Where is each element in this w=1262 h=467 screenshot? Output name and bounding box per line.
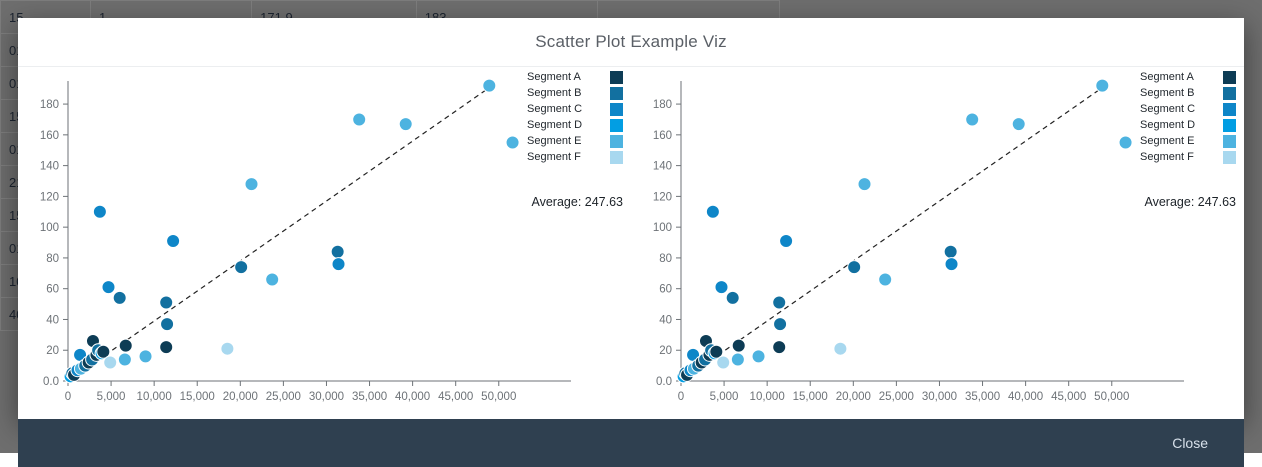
scatter-point[interactable] bbox=[945, 258, 958, 271]
scatter-point[interactable] bbox=[1119, 136, 1132, 149]
scatter-point[interactable] bbox=[266, 273, 279, 286]
scatter-point[interactable] bbox=[879, 273, 892, 286]
y-axis-tick-label: 120 bbox=[40, 191, 59, 203]
legend-item-label: Segment E bbox=[527, 135, 581, 147]
scatter-point[interactable] bbox=[706, 205, 719, 218]
scatter-point[interactable] bbox=[160, 341, 173, 354]
trendline bbox=[68, 84, 494, 381]
legend-color-swatch bbox=[610, 119, 623, 132]
y-axis-tick-label: 140 bbox=[40, 161, 59, 173]
modal-body: 0.02040608010012014016018005,00010,00015… bbox=[18, 67, 1244, 419]
scatter-point[interactable] bbox=[726, 291, 739, 304]
scatter-point[interactable] bbox=[102, 281, 115, 294]
trendline bbox=[681, 84, 1107, 381]
scatter-point[interactable] bbox=[848, 261, 861, 274]
scatter-point[interactable] bbox=[245, 178, 258, 191]
scatter-point[interactable] bbox=[944, 245, 957, 258]
y-axis-tick-label: 100 bbox=[653, 222, 672, 234]
scatter-point[interactable] bbox=[139, 350, 152, 363]
right-chart-average-annotation: Average: 247.63 bbox=[1144, 195, 1236, 209]
y-axis-tick-label: 0.0 bbox=[656, 376, 672, 388]
scatter-point[interactable] bbox=[773, 341, 786, 354]
x-axis-tick-label: 15,000 bbox=[793, 391, 828, 403]
legend-item-label: Segment A bbox=[1140, 71, 1194, 83]
x-axis-tick-label: 20,000 bbox=[836, 391, 871, 403]
visualization-modal: Scatter Plot Example Viz 0.0204060801001… bbox=[18, 18, 1244, 418]
scatter-point[interactable] bbox=[331, 245, 344, 258]
legend-color-swatch bbox=[1223, 71, 1236, 84]
legend-item[interactable]: Segment E bbox=[527, 133, 623, 149]
y-axis-tick-label: 20 bbox=[46, 345, 59, 357]
y-axis-tick-label: 80 bbox=[659, 253, 672, 265]
x-axis-tick-label: 10,000 bbox=[137, 391, 172, 403]
scatter-point[interactable] bbox=[506, 136, 519, 149]
x-axis-tick-label: 45,000 bbox=[1051, 391, 1086, 403]
legend-color-swatch bbox=[610, 71, 623, 84]
scatter-point[interactable] bbox=[752, 350, 765, 363]
scatter-point[interactable] bbox=[93, 205, 106, 218]
legend-item-label: Segment F bbox=[1140, 151, 1194, 163]
legend-item[interactable]: Segment C bbox=[527, 101, 623, 117]
scatter-point[interactable] bbox=[780, 235, 793, 248]
x-axis-tick-label: 5,000 bbox=[710, 391, 739, 403]
legend-color-swatch bbox=[1223, 87, 1236, 100]
legend-color-swatch bbox=[610, 135, 623, 148]
legend-item[interactable]: Segment A bbox=[527, 69, 623, 85]
scatter-point[interactable] bbox=[167, 235, 180, 248]
legend-item-label: Segment B bbox=[1140, 87, 1194, 99]
y-axis-tick-label: 20 bbox=[659, 345, 672, 357]
scatter-point[interactable] bbox=[113, 291, 126, 304]
x-axis-tick-label: 10,000 bbox=[750, 391, 785, 403]
x-axis-tick-label: 30,000 bbox=[309, 391, 344, 403]
left-chart-average-annotation: Average: 247.63 bbox=[531, 195, 623, 209]
x-axis-tick-label: 0 bbox=[65, 391, 71, 403]
scatter-point[interactable] bbox=[858, 178, 871, 191]
scatter-point[interactable] bbox=[834, 342, 847, 355]
scatter-point[interactable] bbox=[717, 356, 730, 369]
y-axis-tick-label: 180 bbox=[653, 99, 672, 111]
legend-item[interactable]: Segment B bbox=[1140, 85, 1236, 101]
legend-item[interactable]: Segment D bbox=[527, 117, 623, 133]
right-chart-legend: Segment ASegment BSegment CSegment DSegm… bbox=[1140, 69, 1236, 165]
scatter-point[interactable] bbox=[399, 118, 412, 131]
y-axis-tick-label: 160 bbox=[40, 130, 59, 142]
legend-color-swatch bbox=[610, 103, 623, 116]
scatter-point[interactable] bbox=[332, 258, 345, 271]
left-scatter-chart-panel: 0.02040608010012014016018005,00010,00015… bbox=[18, 67, 631, 419]
x-axis-tick-label: 20,000 bbox=[223, 391, 258, 403]
legend-item-label: Segment F bbox=[527, 151, 581, 163]
legend-color-swatch bbox=[1223, 135, 1236, 148]
scatter-point[interactable] bbox=[731, 353, 744, 366]
scatter-point[interactable] bbox=[160, 296, 173, 309]
y-axis-tick-label: 80 bbox=[46, 253, 59, 265]
x-axis-tick-label: 35,000 bbox=[352, 391, 387, 403]
legend-item[interactable]: Segment B bbox=[527, 85, 623, 101]
legend-item-label: Segment E bbox=[1140, 135, 1194, 147]
x-axis-tick-label: 50,000 bbox=[1094, 391, 1129, 403]
scatter-point[interactable] bbox=[161, 318, 174, 331]
y-axis-tick-label: 160 bbox=[653, 130, 672, 142]
left-chart-legend: Segment ASegment BSegment CSegment DSegm… bbox=[527, 69, 623, 165]
x-axis-tick-label: 50,000 bbox=[481, 391, 516, 403]
legend-item-label: Segment B bbox=[527, 87, 581, 99]
scatter-point[interactable] bbox=[773, 296, 786, 309]
y-axis-tick-label: 100 bbox=[40, 222, 59, 234]
scatter-point[interactable] bbox=[1012, 118, 1025, 131]
legend-color-swatch bbox=[1223, 119, 1236, 132]
x-axis-tick-label: 0 bbox=[678, 391, 684, 403]
x-axis-tick-label: 35,000 bbox=[965, 391, 1000, 403]
scatter-point[interactable] bbox=[353, 113, 366, 126]
x-axis-tick-label: 15,000 bbox=[180, 391, 215, 403]
scatter-point[interactable] bbox=[104, 356, 117, 369]
legend-color-swatch bbox=[1223, 151, 1236, 164]
legend-item[interactable]: Segment C bbox=[1140, 101, 1236, 117]
modal-header: Scatter Plot Example Viz bbox=[18, 18, 1244, 67]
legend-color-swatch bbox=[1223, 103, 1236, 116]
legend-item[interactable]: Segment F bbox=[1140, 149, 1236, 165]
modal-footer: Close bbox=[18, 419, 1244, 467]
legend-item[interactable]: Segment F bbox=[527, 149, 623, 165]
y-axis-tick-label: 60 bbox=[46, 284, 59, 296]
scatter-point[interactable] bbox=[235, 261, 248, 274]
x-axis-tick-label: 40,000 bbox=[395, 391, 430, 403]
scatter-point[interactable] bbox=[119, 339, 132, 352]
scatter-point[interactable] bbox=[118, 353, 131, 366]
legend-color-swatch bbox=[610, 87, 623, 100]
y-axis-tick-label: 120 bbox=[653, 191, 672, 203]
y-axis-tick-label: 40 bbox=[46, 314, 59, 326]
legend-item[interactable]: Segment A bbox=[1140, 69, 1236, 85]
legend-item[interactable]: Segment E bbox=[1140, 133, 1236, 149]
y-axis-tick-label: 60 bbox=[659, 284, 672, 296]
scatter-point[interactable] bbox=[732, 339, 745, 352]
scatter-point[interactable] bbox=[774, 318, 787, 331]
scatter-point[interactable] bbox=[221, 342, 234, 355]
scatter-point[interactable] bbox=[483, 79, 496, 92]
legend-item-label: Segment A bbox=[527, 71, 581, 83]
legend-item-label: Segment C bbox=[1140, 103, 1195, 115]
y-axis-tick-label: 180 bbox=[40, 99, 59, 111]
page-title: Scatter Plot Example Viz bbox=[535, 32, 727, 52]
x-axis-tick-label: 5,000 bbox=[97, 391, 126, 403]
x-axis-tick-label: 45,000 bbox=[438, 391, 473, 403]
legend-item-label: Segment C bbox=[527, 103, 582, 115]
y-axis-tick-label: 140 bbox=[653, 161, 672, 173]
legend-item-label: Segment D bbox=[1140, 119, 1195, 131]
legend-item[interactable]: Segment D bbox=[1140, 117, 1236, 133]
right-scatter-chart-panel: 0.02040608010012014016018005,00010,00015… bbox=[631, 67, 1244, 419]
scatter-point[interactable] bbox=[966, 113, 979, 126]
legend-color-swatch bbox=[610, 151, 623, 164]
y-axis-tick-label: 0.0 bbox=[43, 376, 59, 388]
y-axis-tick-label: 40 bbox=[659, 314, 672, 326]
scatter-point[interactable] bbox=[715, 281, 728, 294]
x-axis-tick-label: 25,000 bbox=[879, 391, 914, 403]
x-axis-tick-label: 40,000 bbox=[1008, 391, 1043, 403]
legend-item-label: Segment D bbox=[527, 119, 582, 131]
x-axis-tick-label: 25,000 bbox=[266, 391, 301, 403]
x-axis-tick-label: 30,000 bbox=[922, 391, 957, 403]
scatter-point[interactable] bbox=[1096, 79, 1109, 92]
